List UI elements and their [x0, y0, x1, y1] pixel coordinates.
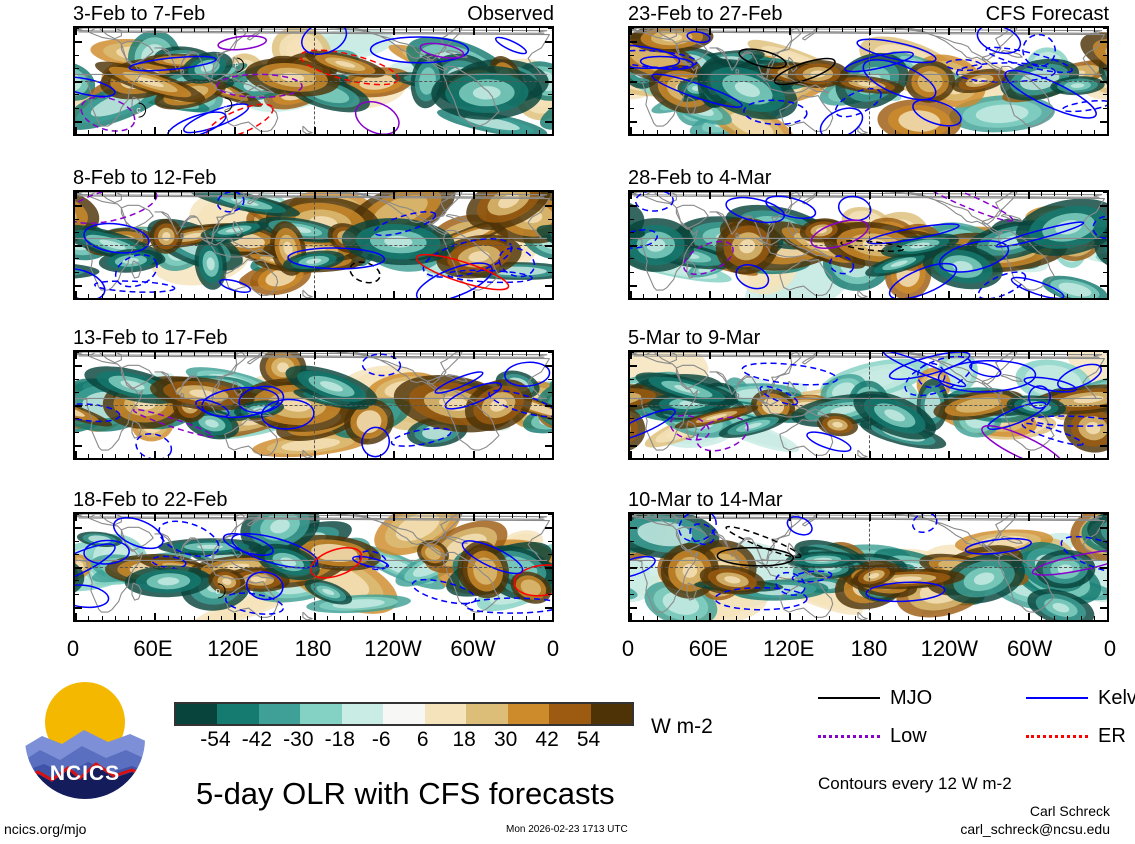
- x-axis-label: 0: [1104, 638, 1116, 660]
- x-tick: [168, 514, 169, 518]
- x-tick: [406, 28, 407, 32]
- x-tick: [261, 454, 262, 458]
- y-tick: [630, 205, 637, 207]
- map-plot-area[interactable]: PCS30N030S: [73, 26, 554, 136]
- x-tick: [908, 454, 909, 458]
- x-tick: [1094, 352, 1095, 356]
- y-tick: [1103, 28, 1107, 29]
- x-tick: [128, 294, 129, 298]
- x-tick: [670, 130, 671, 134]
- x-tick: [922, 192, 923, 196]
- x-tick: [115, 28, 116, 32]
- panel-title: 28-Feb to 4-Mar: [628, 168, 771, 188]
- x-tick: [670, 192, 671, 196]
- x-tick: [353, 130, 354, 134]
- x-tick: [922, 514, 923, 518]
- x-tick: [102, 514, 103, 518]
- y-tick: [548, 192, 552, 193]
- x-tick: [340, 514, 341, 518]
- x-tick: [1014, 28, 1015, 32]
- x-tick: [234, 514, 236, 521]
- y-tick: [548, 514, 552, 515]
- x-tick: [763, 192, 764, 196]
- x-tick: [539, 28, 540, 32]
- x-tick: [287, 514, 288, 518]
- y-tick: [630, 352, 634, 353]
- x-tick: [643, 454, 644, 458]
- x-tick: [908, 28, 909, 32]
- y-tick: [1103, 298, 1107, 299]
- x-tick: [141, 352, 142, 356]
- y-tick: [630, 134, 634, 135]
- y-tick: [1103, 108, 1107, 109]
- x-tick: [486, 454, 487, 458]
- x-tick: [935, 294, 936, 298]
- x-tick: [763, 514, 764, 518]
- panel-kind-label: CFS Forecast: [986, 4, 1109, 24]
- y-tick: [630, 445, 637, 447]
- x-tick: [763, 616, 764, 620]
- y-tick: [75, 298, 79, 299]
- y-tick: [548, 580, 552, 581]
- x-tick-row: [75, 514, 552, 520]
- y-tick: [75, 219, 79, 220]
- ncics-logo: NCICS: [22, 676, 148, 802]
- y-tick: [75, 258, 79, 259]
- y-tick: [75, 379, 79, 380]
- colorbar-swatch: [508, 704, 549, 724]
- map-plot-area[interactable]: 30N030S: [73, 350, 554, 460]
- x-tick: [763, 130, 764, 134]
- x-tick: [802, 454, 803, 458]
- x-tick: [1094, 454, 1095, 458]
- x-tick: [1081, 192, 1082, 196]
- legend-line-swatch: [1026, 697, 1088, 699]
- y-tick-col: [630, 514, 636, 620]
- y-tick: [630, 245, 637, 247]
- x-tick: [459, 352, 460, 356]
- x-tick: [141, 28, 142, 32]
- x-tick: [882, 352, 883, 356]
- x-tick: [154, 451, 156, 458]
- x-tick: [1014, 130, 1015, 134]
- x-tick: [1001, 616, 1002, 620]
- x-tick: [486, 130, 487, 134]
- y-tick: [75, 121, 82, 123]
- x-tick: [1094, 28, 1095, 32]
- x-tick: [1107, 28, 1109, 35]
- x-tick: [842, 28, 843, 32]
- y-tick: [548, 108, 552, 109]
- x-tick: [829, 192, 830, 196]
- x-tick: [988, 616, 989, 620]
- x-tick: [499, 28, 500, 32]
- x-tick: [115, 514, 116, 518]
- x-tick: [1067, 192, 1068, 196]
- x-tick: [367, 28, 368, 32]
- x-tick: [683, 514, 684, 518]
- x-tick: [486, 514, 487, 518]
- x-tick: [446, 352, 447, 356]
- x-tick: [683, 454, 684, 458]
- x-tick: [300, 352, 301, 356]
- x-tick: [1067, 454, 1068, 458]
- y-tick: [75, 192, 79, 193]
- x-tick-row: [630, 292, 1107, 298]
- x-tick: [975, 28, 976, 32]
- x-tick: [948, 28, 950, 35]
- x-tick: [486, 616, 487, 620]
- x-tick: [709, 514, 711, 521]
- x-tick: [988, 352, 989, 356]
- y-tick: [630, 514, 634, 515]
- x-tick: [842, 616, 843, 620]
- x-tick: [683, 616, 684, 620]
- colorbar-tick: 18: [452, 729, 475, 750]
- map-plot-area[interactable]: [628, 512, 1109, 622]
- x-tick: [512, 192, 513, 196]
- x-tick: [539, 454, 540, 458]
- x-tick: [908, 192, 909, 196]
- y-tick-col: [546, 28, 552, 134]
- y-tick: [630, 365, 637, 367]
- x-tick: [723, 294, 724, 298]
- x-tick: [287, 294, 288, 298]
- y-tick: [545, 285, 552, 287]
- y-tick: [548, 541, 552, 542]
- x-tick: [816, 454, 817, 458]
- x-tick: [1107, 291, 1109, 298]
- x-tick: [274, 514, 275, 518]
- map-plot-area[interactable]: [628, 26, 1109, 136]
- x-tick: [882, 454, 883, 458]
- x-tick: [247, 454, 248, 458]
- y-tick-col: [546, 352, 552, 458]
- y-tick: [630, 541, 634, 542]
- x-tick: [1054, 294, 1055, 298]
- map-panel: 3-Feb to 7-FebObservedPCS30N030S: [73, 4, 554, 136]
- y-tick: [1100, 405, 1107, 407]
- x-tick: [433, 192, 434, 196]
- x-tick: [194, 514, 195, 518]
- dateline-marker: [869, 28, 870, 134]
- x-axis-label: 0: [67, 638, 79, 660]
- generation-timestamp: Mon 2026-02-23 1713 UTC: [506, 824, 628, 835]
- x-tick: [181, 130, 182, 134]
- x-tick: [208, 294, 209, 298]
- x-tick: [670, 294, 671, 298]
- x-tick: [975, 130, 976, 134]
- y-tick: [630, 121, 637, 123]
- map-plot-area[interactable]: 30N030S: [73, 190, 554, 300]
- x-tick: [869, 291, 871, 298]
- x-tick: [736, 294, 737, 298]
- x-tick: [869, 451, 871, 458]
- colorbar-swatch: [259, 704, 300, 724]
- x-tick: [261, 294, 262, 298]
- x-tick: [367, 616, 368, 620]
- x-tick: [816, 130, 817, 134]
- y-tick-col: [1101, 28, 1107, 134]
- x-tick: [446, 192, 447, 196]
- x-tick: [961, 454, 962, 458]
- y-tick: [75, 68, 79, 69]
- author-name: Carl Schreck: [818, 804, 1110, 819]
- y-tick: [630, 285, 637, 287]
- x-tick: [975, 192, 976, 196]
- x-tick: [88, 28, 89, 32]
- y-tick: [75, 365, 82, 367]
- x-tick: [723, 514, 724, 518]
- x-tick: [829, 294, 830, 298]
- y-tick-col: [630, 28, 636, 134]
- x-tick: [128, 130, 129, 134]
- x-tick: [723, 28, 724, 32]
- x-tick: [221, 130, 222, 134]
- x-tick: [261, 616, 262, 620]
- x-tick: [154, 514, 156, 521]
- y-tick: [1103, 594, 1107, 595]
- x-tick: [221, 616, 222, 620]
- x-tick: [776, 130, 777, 134]
- colorbar: [174, 702, 634, 726]
- x-tick: [802, 616, 803, 620]
- x-tick: [895, 294, 896, 298]
- colorbar-swatch: [342, 704, 383, 724]
- x-tick: [882, 616, 883, 620]
- x-tick: [842, 294, 843, 298]
- author-email: carl_schreck@ncsu.edu: [818, 822, 1110, 837]
- x-tick: [1081, 28, 1082, 32]
- map-panel: 28-Feb to 4-Mar: [628, 168, 1109, 300]
- map-plot-area[interactable]: [628, 350, 1109, 460]
- x-tick: [736, 454, 737, 458]
- x-tick: [855, 514, 856, 518]
- x-tick: [115, 454, 116, 458]
- x-tick: [327, 616, 328, 620]
- y-tick: [75, 134, 79, 135]
- x-tick: [473, 127, 475, 134]
- x-axis-label: 180: [295, 638, 332, 660]
- svg-text:S: S: [223, 103, 227, 109]
- x-tick: [882, 28, 883, 32]
- x-tick: [154, 127, 156, 134]
- x-tick: [420, 294, 421, 298]
- x-tick: [908, 514, 909, 518]
- x-tick: [340, 454, 341, 458]
- x-tick: [314, 192, 316, 199]
- x-tick: [367, 192, 368, 196]
- y-tick: [1103, 94, 1107, 95]
- x-tick: [287, 352, 288, 356]
- x-tick: [552, 28, 554, 35]
- x-tick: [816, 192, 817, 196]
- x-tick: [709, 192, 711, 199]
- x-tick: [181, 616, 182, 620]
- site-url[interactable]: ncics.org/mjo: [4, 822, 86, 836]
- colorbar-swatch: [383, 704, 424, 724]
- y-tick: [548, 232, 552, 233]
- x-tick: [975, 294, 976, 298]
- x-tick: [340, 352, 341, 356]
- dateline-marker: [314, 28, 315, 134]
- x-tick: [763, 352, 764, 356]
- x-tick: [473, 28, 475, 35]
- y-tick: [548, 28, 552, 29]
- y-tick: [1103, 379, 1107, 380]
- x-tick: [709, 451, 711, 458]
- svg-text:P: P: [235, 64, 239, 70]
- y-tick: [1103, 134, 1107, 135]
- x-tick: [526, 616, 527, 620]
- x-tick: [552, 451, 554, 458]
- x-tick: [776, 616, 777, 620]
- x-tick: [194, 192, 195, 196]
- x-tick: [935, 514, 936, 518]
- x-tick: [380, 514, 381, 518]
- legend-item: ER: [1026, 726, 1126, 746]
- y-tick: [75, 94, 79, 95]
- x-tick: [314, 613, 316, 620]
- x-tick: [670, 616, 671, 620]
- x-axis-label: 120W: [921, 638, 978, 660]
- x-tick: [643, 130, 644, 134]
- x-tick: [988, 454, 989, 458]
- y-tick: [1100, 365, 1107, 367]
- x-tick: [88, 192, 89, 196]
- x-tick: [473, 192, 475, 199]
- x-tick: [948, 613, 950, 620]
- x-tick: [829, 130, 830, 134]
- x-tick: [102, 192, 103, 196]
- x-axis-label: 60W: [1007, 638, 1052, 660]
- x-tick: [816, 28, 817, 32]
- x-tick: [181, 514, 182, 518]
- x-tick: [380, 454, 381, 458]
- x-tick: [935, 130, 936, 134]
- y-tick: [548, 554, 552, 555]
- x-tick: [221, 294, 222, 298]
- y-tick: [630, 620, 634, 621]
- x-tick: [948, 127, 950, 134]
- x-tick: [816, 616, 817, 620]
- x-tick: [234, 613, 236, 620]
- y-tick: [75, 514, 79, 515]
- x-tick: [406, 616, 407, 620]
- panel-title: 3-Feb to 7-Feb: [73, 4, 205, 24]
- x-tick: [1014, 616, 1015, 620]
- x-tick: [1001, 514, 1002, 518]
- x-tick: [340, 28, 341, 32]
- x-tick: [1081, 294, 1082, 298]
- y-tick: [548, 352, 552, 353]
- x-tick: [459, 28, 460, 32]
- legend-label: Kelvin x2: [1098, 688, 1135, 708]
- x-tick: [446, 28, 447, 32]
- y-tick: [630, 272, 634, 273]
- x-tick: [1067, 28, 1068, 32]
- y-tick: [545, 445, 552, 447]
- x-tick: [975, 454, 976, 458]
- x-tick: [1054, 454, 1055, 458]
- legend-item: Low: [818, 726, 927, 746]
- x-tick: [353, 294, 354, 298]
- x-tick: [723, 352, 724, 356]
- x-tick: [869, 192, 871, 199]
- x-tick: [895, 514, 896, 518]
- y-tick: [548, 298, 552, 299]
- x-axis-label: 0: [622, 638, 634, 660]
- x-tick: [168, 294, 169, 298]
- x-tick: [154, 291, 156, 298]
- x-tick: [895, 616, 896, 620]
- x-tick: [869, 28, 871, 35]
- x-tick: [789, 514, 791, 521]
- x-tick-row: [75, 352, 552, 358]
- y-tick: [548, 594, 552, 595]
- map-plot-area[interactable]: D30N030S: [73, 512, 554, 622]
- x-tick: [221, 514, 222, 518]
- x-tick: [776, 514, 777, 518]
- x-tick: [816, 352, 817, 356]
- x-tick: [526, 352, 527, 356]
- y-tick: [1100, 121, 1107, 123]
- y-tick: [1100, 285, 1107, 287]
- y-tick: [1103, 541, 1107, 542]
- x-tick: [789, 451, 791, 458]
- x-tick: [922, 294, 923, 298]
- x-tick: [776, 192, 777, 196]
- y-tick-col: [75, 352, 81, 458]
- x-tick: [234, 352, 236, 359]
- x-tick: [102, 454, 103, 458]
- x-tick: [696, 514, 697, 518]
- x-tick: [340, 294, 341, 298]
- x-tick: [789, 192, 791, 199]
- x-tick: [526, 130, 527, 134]
- x-tick: [128, 454, 129, 458]
- x-tick: [539, 130, 540, 134]
- y-tick: [630, 108, 634, 109]
- x-tick: [221, 28, 222, 32]
- map-plot-area[interactable]: [628, 190, 1109, 300]
- x-tick: [789, 28, 791, 35]
- x-tick: [287, 130, 288, 134]
- x-tick: [829, 616, 830, 620]
- x-tick: [670, 352, 671, 356]
- y-tick: [545, 365, 552, 367]
- x-tick: [749, 454, 750, 458]
- y-tick: [1103, 55, 1107, 56]
- y-tick-col: [546, 192, 552, 298]
- x-tick: [154, 28, 156, 35]
- x-tick: [274, 192, 275, 196]
- x-tick: [353, 352, 354, 356]
- x-tick: [1081, 616, 1082, 620]
- x-tick: [300, 28, 301, 32]
- x-tick: [1067, 352, 1068, 356]
- x-tick: [194, 352, 195, 356]
- dateline-marker: [314, 192, 315, 298]
- x-tick: [709, 352, 711, 359]
- x-tick: [327, 352, 328, 356]
- x-tick: [842, 454, 843, 458]
- x-tick: [855, 192, 856, 196]
- x-tick: [802, 294, 803, 298]
- legend-line-swatch: [818, 735, 880, 738]
- x-tick-row: [630, 514, 1107, 520]
- x-tick: [882, 130, 883, 134]
